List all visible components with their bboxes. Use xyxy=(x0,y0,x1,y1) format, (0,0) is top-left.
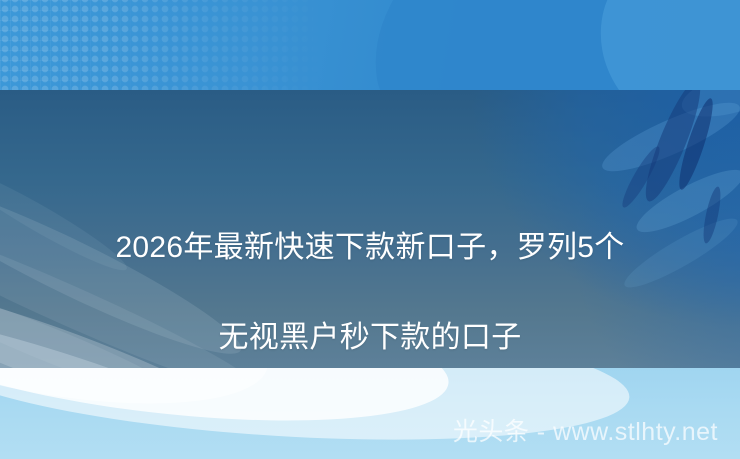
cover-image: 2026年最新快速下款新口子，罗列5个 无视黑户秒下款的口子 光头条 - www… xyxy=(0,0,740,459)
cover-title-line-2: 无视黑户秒下款的口子 xyxy=(0,315,740,360)
top-color-band xyxy=(0,0,740,90)
site-watermark: 光头条 - www.stlhty.net xyxy=(453,417,718,447)
halftone-dot-texture xyxy=(0,0,330,90)
cover-title: 2026年最新快速下款新口子，罗列5个 无视黑户秒下款的口子 xyxy=(0,180,740,405)
cover-title-line-1: 2026年最新快速下款新口子，罗列5个 xyxy=(0,225,740,270)
